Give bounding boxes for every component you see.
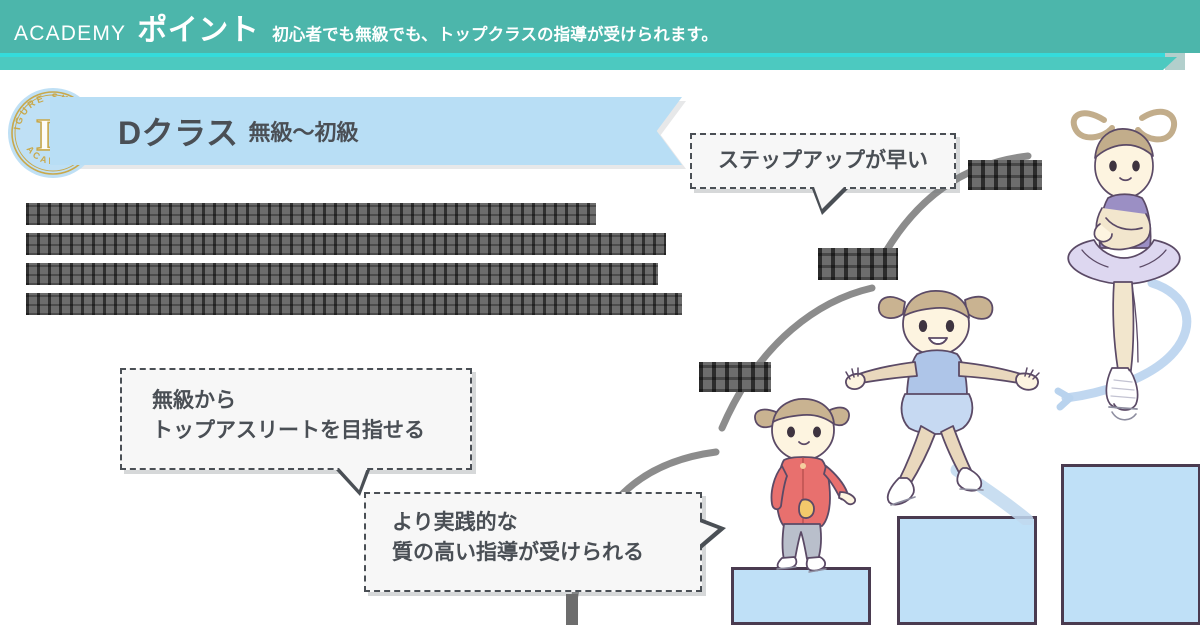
step-label-redacted [968,160,1042,190]
staircase-step [897,516,1037,625]
bubble-goal: 無級から トップアスリートを目指せる [120,368,472,470]
bubble-quality-stem [566,594,578,625]
bubble-goal-line-1: 無級から [152,386,470,416]
bubble-step-up-line-1: ステップアップが早い [718,146,928,176]
skater-intermediate-illustration [845,280,1050,525]
skater-advanced-illustration [1052,98,1200,448]
bubble-goal-tail-fill [339,468,367,490]
step-label-redacted [818,248,898,280]
bubble-quality-tail-fill [697,521,718,547]
bubble-quality-line-1: より実践的な [392,508,700,538]
bubble-goal-line-2: トップアスリートを目指せる [152,416,470,446]
bubble-step-up-tail-fill [814,187,844,209]
bubble-quality-line-2: 質の高い指導が受けられる [392,538,700,568]
staircase-step [1061,464,1200,625]
bubble-step-up: ステップアップが早い [690,133,956,189]
bubble-quality: より実践的な 質の高い指導が受けられる [364,492,702,592]
